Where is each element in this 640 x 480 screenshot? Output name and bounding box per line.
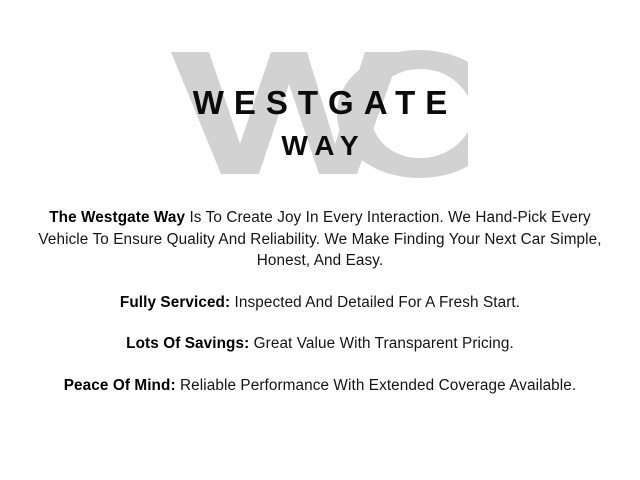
- brand-header: WESTGATE WAY: [0, 0, 640, 185]
- paragraph-fully-serviced: Fully Serviced: Inspected And Detailed F…: [14, 292, 626, 314]
- paragraph-intro-lead: The Westgate Way: [49, 209, 185, 226]
- paragraph-intro: The Westgate Way Is To Create Joy In Eve…: [14, 207, 626, 272]
- brand-wordmark: WESTGATE WAY: [0, 86, 640, 160]
- paragraph-peace-of-mind-rest: Reliable Performance With Extended Cover…: [176, 377, 577, 394]
- brand-wordmark-line2: WAY: [0, 132, 640, 160]
- paragraph-lots-of-savings: Lots Of Savings: Great Value With Transp…: [14, 333, 626, 355]
- paragraph-fully-serviced-lead: Fully Serviced:: [120, 294, 230, 311]
- paragraph-lots-of-savings-lead: Lots Of Savings:: [126, 335, 249, 352]
- paragraph-peace-of-mind: Peace Of Mind: Reliable Performance With…: [14, 375, 626, 397]
- body-copy: The Westgate Way Is To Create Joy In Eve…: [0, 207, 640, 396]
- brand-wordmark-line1: WESTGATE: [0, 86, 640, 119]
- paragraph-peace-of-mind-lead: Peace Of Mind:: [64, 377, 176, 394]
- paragraph-fully-serviced-rest: Inspected And Detailed For A Fresh Start…: [230, 294, 520, 311]
- paragraph-lots-of-savings-rest: Great Value With Transparent Pricing.: [249, 335, 514, 352]
- westgate-way-graphic: WESTGATE WAY The Westgate Way Is To Crea…: [0, 0, 640, 480]
